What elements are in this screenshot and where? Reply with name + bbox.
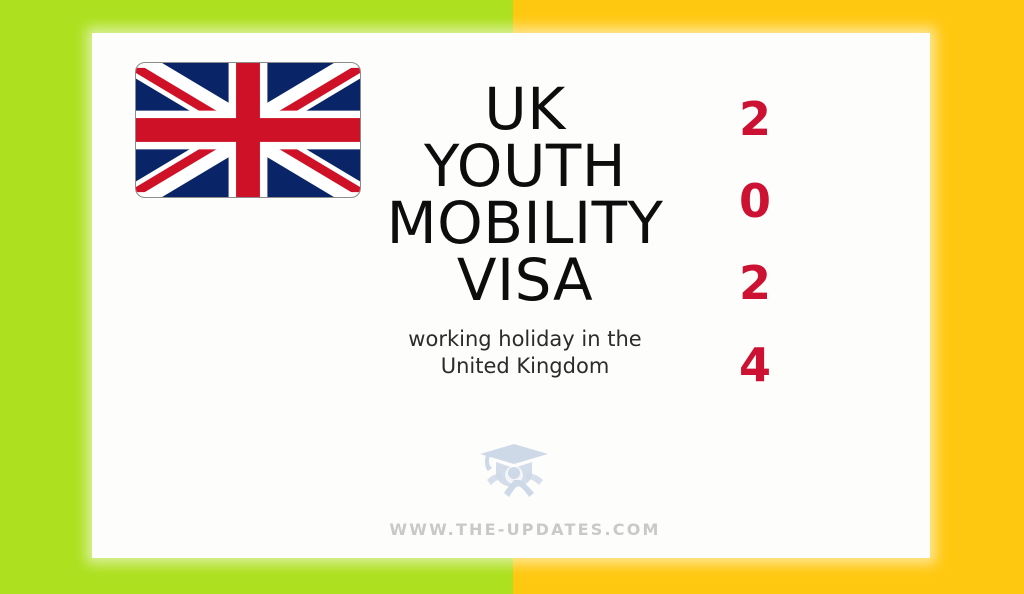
year-digit-4: 4 xyxy=(722,324,788,406)
year-digit-2: 0 xyxy=(722,160,788,242)
website-url: WWW.THE-UPDATES.COM xyxy=(360,520,690,539)
poster-root: UK YOUTH MOBILITY VISA working holiday i… xyxy=(0,0,1024,594)
graduation-cap-icon xyxy=(478,440,552,502)
title-line-3: MOBILITY xyxy=(360,195,690,252)
page-title: UK YOUTH MOBILITY VISA xyxy=(360,81,690,309)
subtitle: working holiday in the United Kingdom xyxy=(360,326,690,380)
subtitle-line-2: United Kingdom xyxy=(360,353,690,380)
title-line-1: UK xyxy=(360,81,690,138)
graduation-cap-figure-logo xyxy=(478,440,552,502)
subtitle-line-1: working holiday in the xyxy=(360,326,690,353)
year-badge: 2 0 2 4 xyxy=(722,78,788,406)
year-digit-1: 2 xyxy=(722,78,788,160)
year-digit-3: 2 xyxy=(722,242,788,324)
title-line-4: VISA xyxy=(360,252,690,309)
union-jack-icon xyxy=(136,63,360,197)
content-card: UK YOUTH MOBILITY VISA working holiday i… xyxy=(92,33,930,558)
title-line-2: YOUTH xyxy=(360,138,690,195)
united-kingdom-flag xyxy=(135,62,361,198)
